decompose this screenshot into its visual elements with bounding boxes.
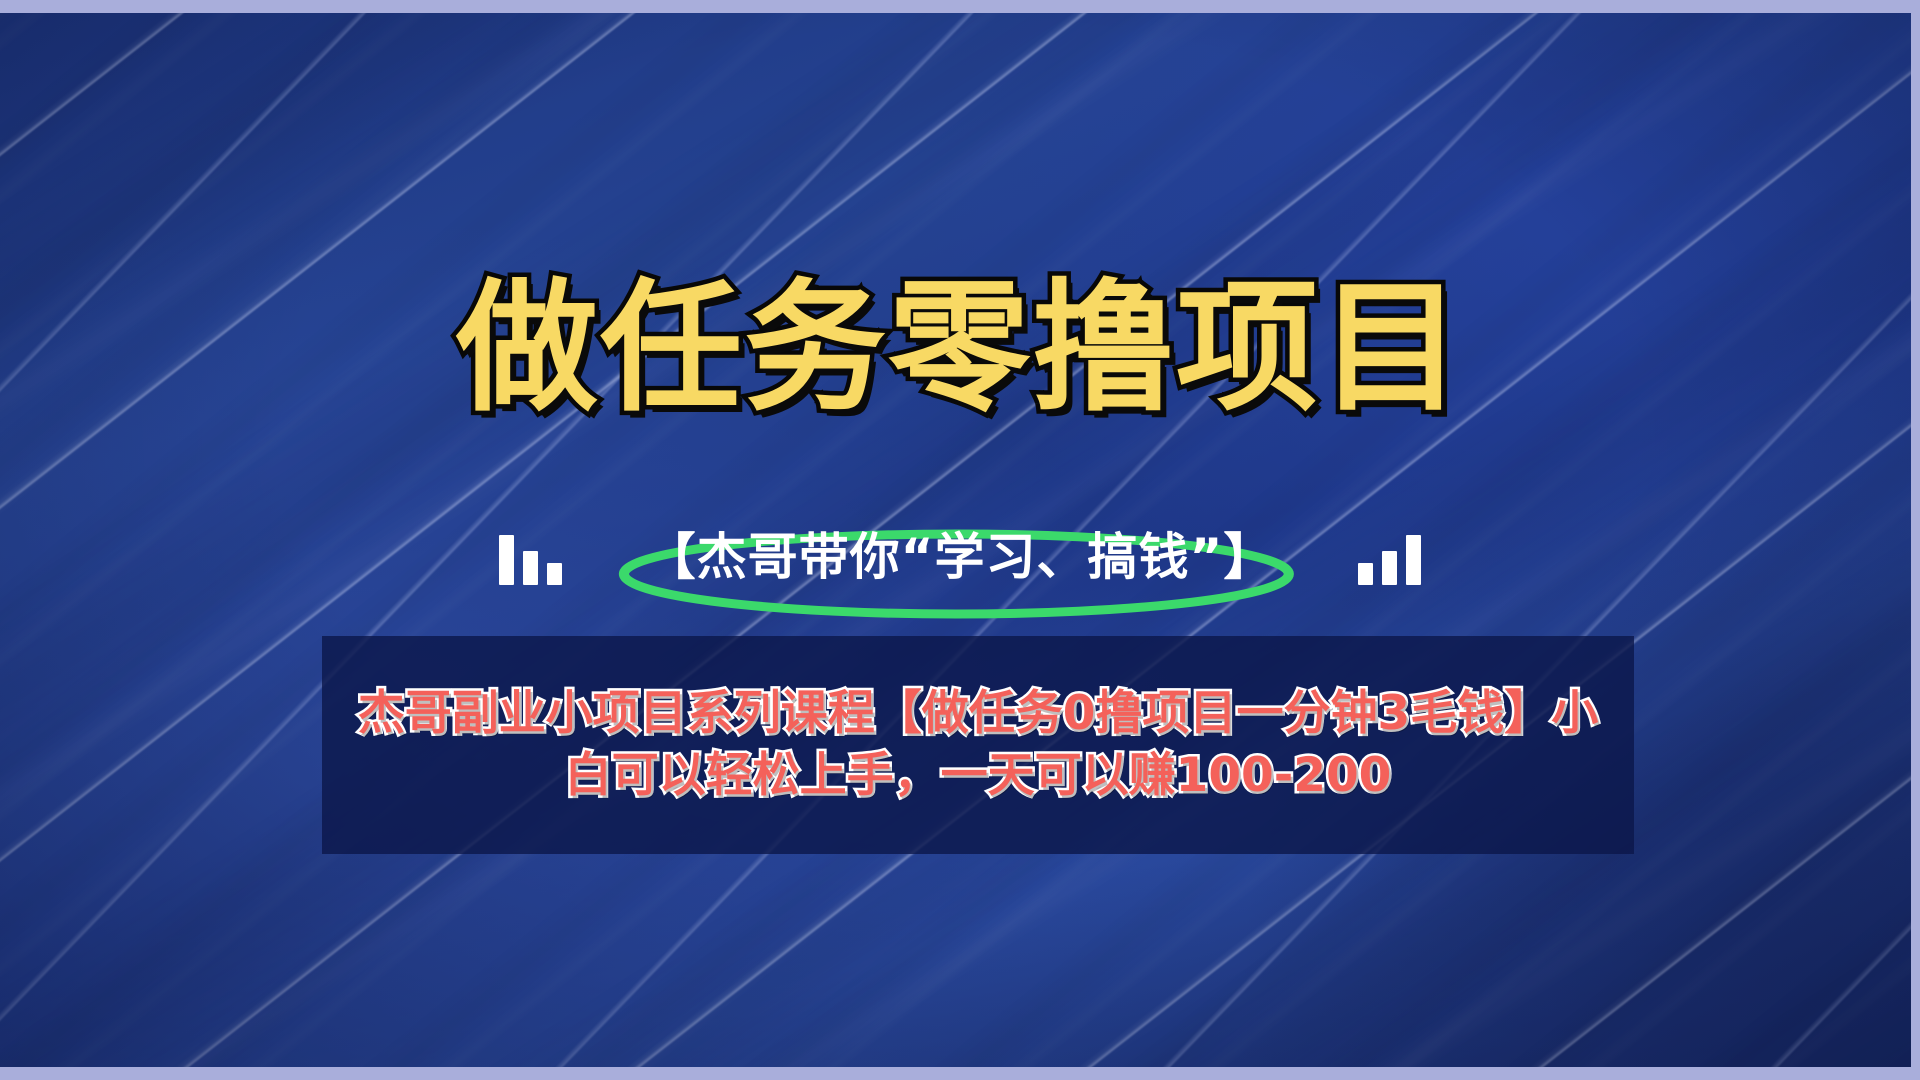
bottom-edge-band (0, 1067, 1920, 1080)
description-panel: 杰哥副业小项目系列课程【做任务0撸项目一分钟3毛钱】小白可以轻松上手，一天可以赚… (322, 636, 1634, 854)
page-title: 做任务零撸项目 (456, 272, 1464, 425)
bar-1 (1358, 563, 1373, 585)
bar-2 (523, 551, 538, 585)
top-edge-band (0, 0, 1920, 13)
bar-chart-ascending-icon (1358, 531, 1421, 585)
bar-2 (1382, 551, 1397, 585)
poster-canvas: 做任务零撸项目 【杰哥带你“学习、搞钱”】 杰哥副业小项目系列课程【做任务0撸项… (0, 0, 1920, 1080)
bar-3 (547, 563, 562, 585)
page-subtitle: 【杰哥带你“学习、搞钱”】 (646, 528, 1275, 586)
bar-chart-descending-icon (499, 531, 562, 585)
bar-1 (499, 535, 514, 585)
subtitle-row: 【杰哥带你“学习、搞钱”】 (0, 512, 1920, 604)
title-block: 做任务零撸项目 (0, 272, 1920, 425)
subtitle-highlight-group: 【杰哥带你“学习、搞钱”】 (620, 526, 1301, 591)
description-text: 杰哥副业小项目系列课程【做任务0撸项目一分钟3毛钱】小白可以轻松上手，一天可以赚… (322, 683, 1634, 807)
right-edge-band (1911, 0, 1920, 1080)
bar-3 (1406, 535, 1421, 585)
